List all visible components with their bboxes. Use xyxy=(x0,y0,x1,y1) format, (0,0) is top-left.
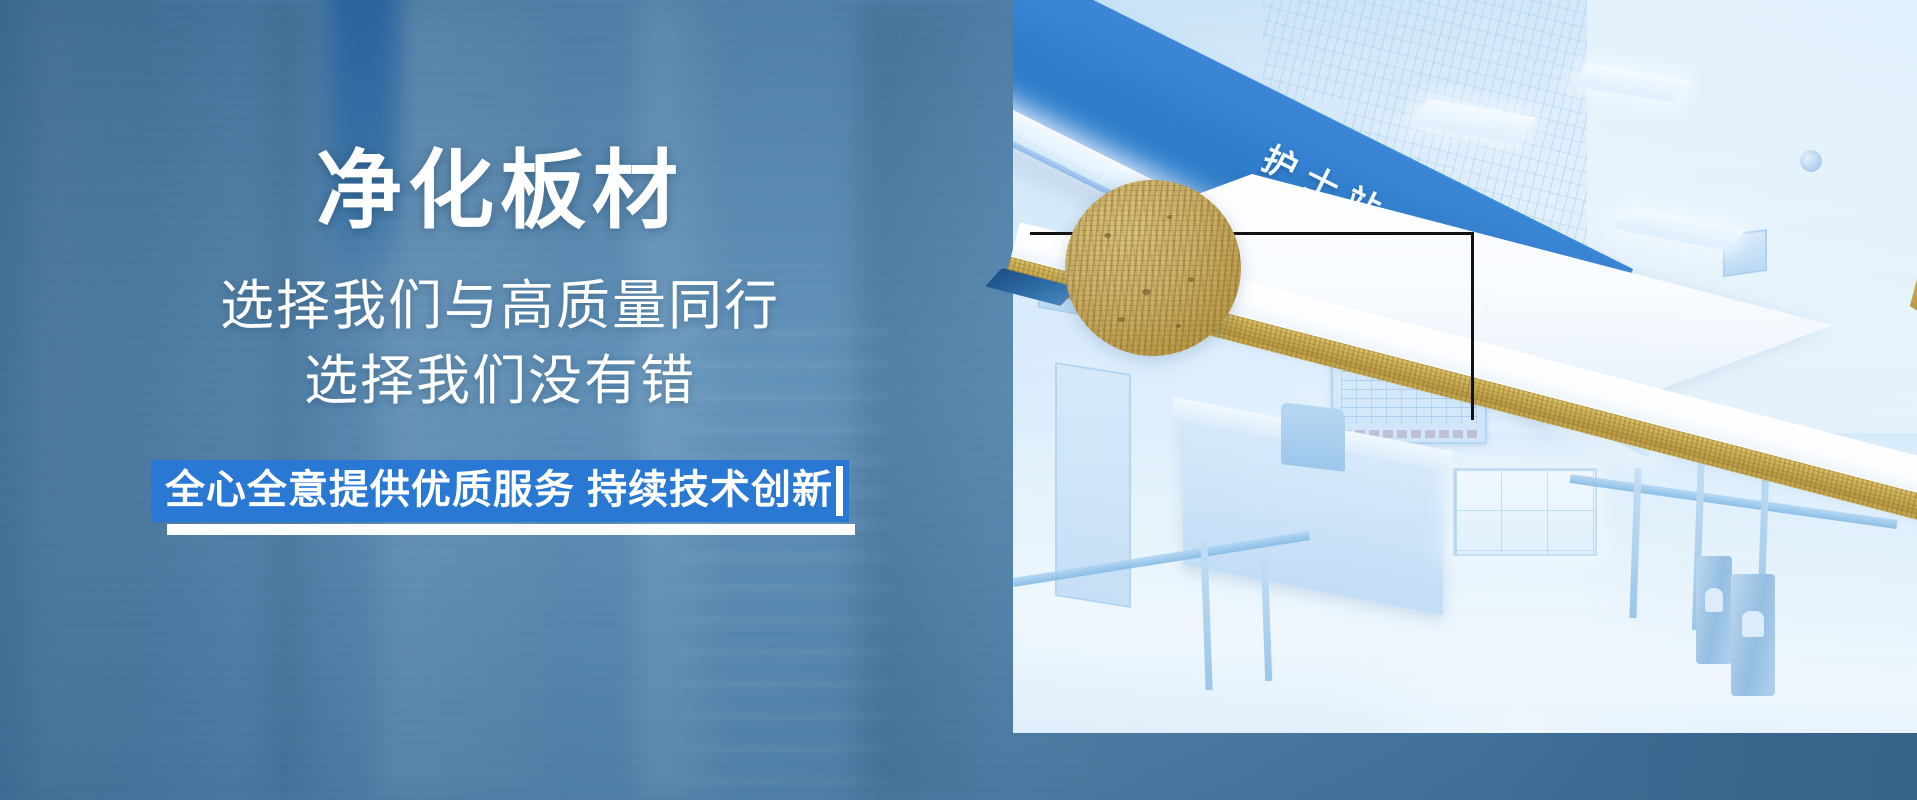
subtitle-line-2: 选择我们没有错 xyxy=(304,347,696,416)
tagline-banner: 全心全意提供优质服务 持续技术创新 xyxy=(151,460,849,522)
security-dome-camera xyxy=(1800,150,1822,172)
texture-speck-5 xyxy=(1118,317,1125,322)
tagline-underline xyxy=(167,524,855,535)
texture-speck-6 xyxy=(1176,324,1181,328)
texture-speck-3 xyxy=(1142,289,1151,295)
texture-speck-1 xyxy=(1104,233,1111,238)
headline-text-block: 净化板材 选择我们与高质量同行 选择我们没有错 全心全意提供优质服务 持续技术创… xyxy=(0,0,1000,800)
banner-root: 考勤表 护士站 Nursing Station xyxy=(0,0,1917,800)
tagline-text: 全心全意提供优质服务 持续技术创新 xyxy=(165,468,833,512)
texture-speck-4 xyxy=(1188,277,1194,282)
page-title: 净化板材 xyxy=(316,148,684,234)
bin-slot-1 xyxy=(1705,588,1723,612)
bin-slot-2 xyxy=(1742,611,1764,638)
trash-bin-1 xyxy=(1696,556,1732,664)
nurse-station-sign-chinese: 护士站 xyxy=(1255,132,1400,237)
office-chair xyxy=(1281,402,1345,472)
texture-speck-2 xyxy=(1167,215,1172,219)
subtitle-line-1: 选择我们与高质量同行 xyxy=(220,272,780,341)
tagline-end-tick xyxy=(836,466,843,516)
trash-bin-2 xyxy=(1731,574,1775,696)
rockwool-texture-inset xyxy=(1065,180,1241,356)
product-photo: 考勤表 护士站 Nursing Station xyxy=(1013,0,1917,733)
tagline-bar: 全心全意提供优质服务 持续技术创新 xyxy=(151,460,849,522)
